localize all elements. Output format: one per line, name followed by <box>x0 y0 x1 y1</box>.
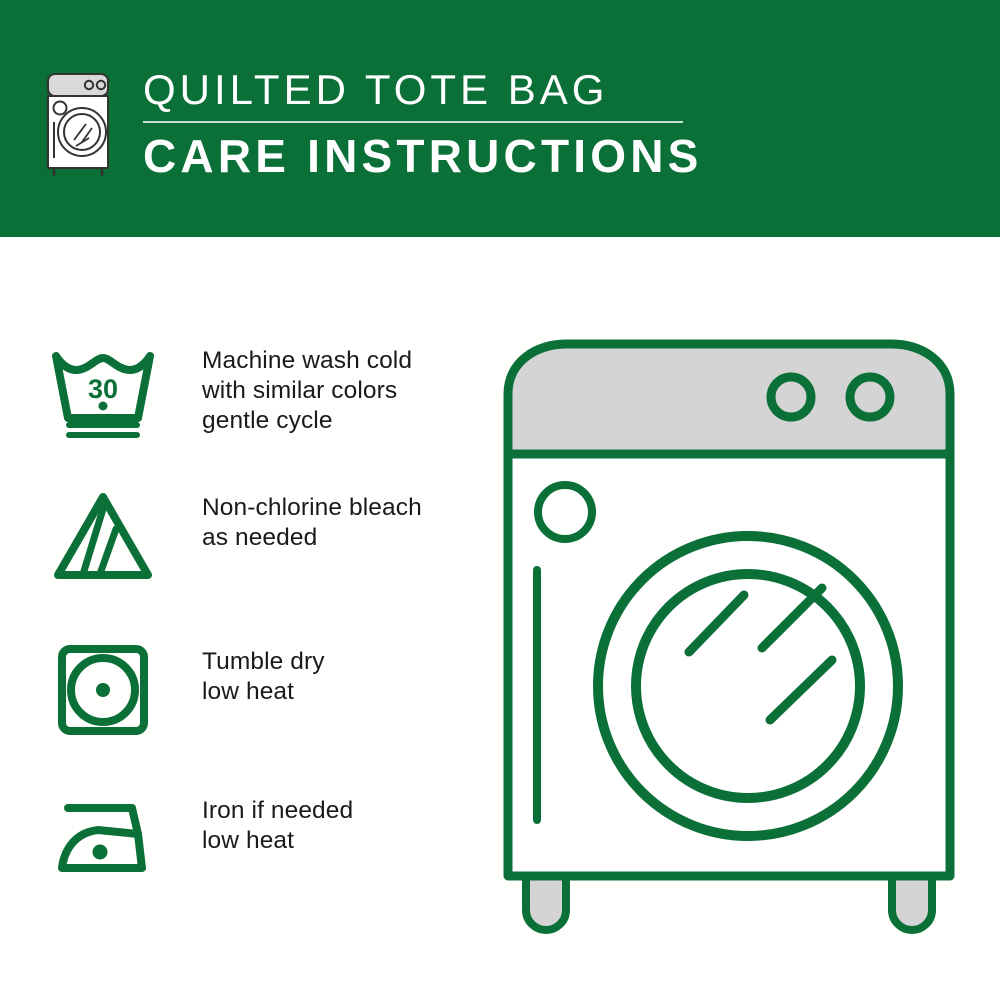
care-row-iron: Iron if needed low heat <box>48 790 468 890</box>
front-load-washing-machine-illustration <box>492 330 974 940</box>
header-band: QUILTED TOTE BAG CARE INSTRUCTIONS <box>0 0 1000 237</box>
title-divider <box>143 121 683 123</box>
wash-tub-30-icon: 30 <box>48 340 158 440</box>
care-text-dry: Tumble dry low heat <box>202 641 325 707</box>
care-row-bleach: Non-chlorine bleach as needed <box>48 487 468 587</box>
care-text-wash: Machine wash cold with similar colors ge… <box>202 340 412 436</box>
washing-machine-icon <box>44 68 112 180</box>
machine-knob-left <box>771 377 811 417</box>
iron-low-heat-icon <box>48 790 158 890</box>
care-instructions-page: QUILTED TOTE BAG CARE INSTRUCTIONS 30 Ma… <box>0 0 1000 1000</box>
care-text-iron: Iron if needed low heat <box>202 790 353 856</box>
wash-temperature-value: 30 <box>88 374 118 404</box>
non-chlorine-bleach-triangle-icon <box>48 487 158 587</box>
care-text-bleach: Non-chlorine bleach as needed <box>202 487 422 553</box>
tumble-dry-low-icon <box>48 641 158 741</box>
header-text-block: QUILTED TOTE BAG CARE INSTRUCTIONS <box>143 65 703 182</box>
page-subtitle: CARE INSTRUCTIONS <box>143 130 703 182</box>
machine-body <box>508 454 950 876</box>
machine-knob-right <box>850 377 890 417</box>
page-title: QUILTED TOTE BAG <box>143 65 703 115</box>
care-row-dry: Tumble dry low heat <box>48 641 468 741</box>
care-row-wash: 30 Machine wash cold with similar colors… <box>48 340 468 440</box>
